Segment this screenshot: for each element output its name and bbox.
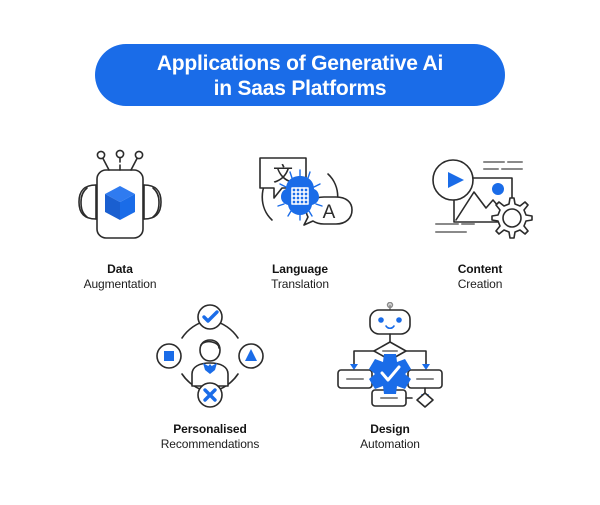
banner-title-line-1: Applications of Generative Ai [157,51,443,76]
robot-flowchart-gear-icon [330,300,450,412]
person-preferences-icon [150,300,270,412]
card-caption: Language Translation [271,262,329,292]
card-title: Design [360,422,420,437]
card-personalised-recommendations: Personalised Recommendations [120,300,300,452]
card-caption: Data Augmentation [84,262,157,292]
card-subtitle: Recommendations [161,437,260,452]
cards-row-bottom: Personalised Recommendations [0,300,600,452]
cards-row-top: Data Augmentation 文 A [0,140,600,292]
card-subtitle: Translation [271,277,329,292]
banner-title-line-2: in Saas Platforms [214,76,387,101]
card-subtitle: Creation [458,277,503,292]
card-design-automation: Design Automation [300,300,480,452]
title-banner: Applications of Generative Ai in Saas Pl… [95,44,505,106]
translation-chat-brain-icon: 文 A [240,140,360,252]
card-caption: Content Creation [458,262,503,292]
media-gear-icon [420,140,540,252]
card-title: Data [84,262,157,277]
card-title: Personalised [161,422,260,437]
robot-cube-icon [60,140,180,252]
card-content-creation: Content Creation [390,140,570,292]
card-subtitle: Automation [360,437,420,452]
card-caption: Personalised Recommendations [161,422,260,452]
card-title: Language [271,262,329,277]
card-subtitle: Augmentation [84,277,157,292]
card-caption: Design Automation [360,422,420,452]
card-data-augmentation: Data Augmentation [30,140,210,292]
card-title: Content [458,262,503,277]
target-language-glyph: A [323,202,336,223]
card-language-translation: 文 A Language Translation [210,140,390,292]
title-banner-container: Applications of Generative Ai in Saas Pl… [0,44,600,106]
